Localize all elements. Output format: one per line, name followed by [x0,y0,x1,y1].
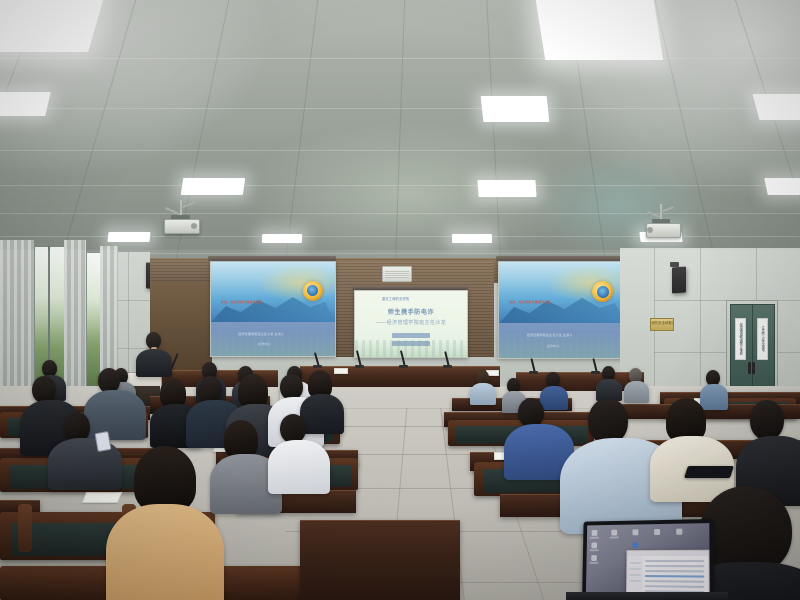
wall-plaque-sign: 消防安全疏散图 [650,318,674,331]
attendee-head [280,414,306,443]
attendee-head [750,400,784,440]
ceiling-grid-line [0,185,800,186]
smartphone-in-hand[interactable] [94,431,111,452]
microphone-base [443,365,452,368]
ceiling-grid-line [0,58,800,59]
right-projection-screen[interactable]: 防范、电信网络诈骗宣传讲座 经济管理学院班主任沙龙 主讲人 反诈中心 [498,261,626,359]
ceiling-led-panel [181,178,245,195]
wall-fixture [382,266,412,282]
emblem-inner-icon [307,285,318,296]
attendee-torso [106,504,224,600]
door-notice-left: 保持通道畅通禁止堆放 [735,318,746,360]
attendee-torso [268,440,330,494]
attendee-torso [540,386,568,410]
center-projection-screen[interactable]: 重庆工商职业学院 师生携手防电诈 ——经济管理学院班主任沙龙 [354,290,468,358]
desktop-icon-browser[interactable] [632,542,638,548]
door-handle[interactable] [748,362,751,374]
door-notice-left-text: 保持通道畅通禁止堆放 [738,320,742,358]
attendee-torso [624,381,649,403]
attendee-torso [700,384,728,410]
ceiling-led-panel [535,0,663,60]
center-slide-org: 重庆工商职业学院 [382,296,409,301]
file-row[interactable] [645,580,704,583]
desktop-icon-label [590,537,599,539]
ceiling-led-panel [0,0,106,52]
microphone-base [591,371,600,374]
file-manager-window[interactable] [626,550,710,596]
ceiling-grid-line [0,150,800,151]
ceiling-led-panel [753,94,800,120]
ceiling-led-panel [477,180,536,197]
bench-desk-foreground [300,520,460,600]
police-badge-emblem-icon [303,281,323,301]
attendee-head [198,376,222,403]
file-row-selected[interactable] [645,575,704,578]
attendee-torso [84,390,146,440]
left-projection-screen[interactable]: 防范、电信网络诈骗宣传讲座 经济管理学院班主任沙龙 主讲人 反诈中心 [210,261,336,357]
microphone-base [313,365,322,368]
attendee-torso [470,383,496,405]
bench-armrest [18,504,32,552]
desktop-icon-label [590,549,599,551]
ceiling-led-panel [452,234,492,243]
left-slide-footer-1: 经济管理学院班主任沙龙 主讲人 [238,332,284,336]
desktop-icon[interactable] [591,543,597,549]
center-slide-skyline [355,340,467,357]
lecture-hall-photo: 防范、电信网络诈骗宣传讲座 经济管理学院班主任沙龙 主讲人 反诈中心 重庆工商职… [0,0,800,600]
desk-name-card [334,368,348,374]
microphone-base [529,371,538,374]
desktop-icon[interactable] [591,555,597,561]
ceiling-grid-line [0,213,800,214]
file-row[interactable] [645,585,705,588]
door-handle[interactable] [752,362,755,374]
wall-plaque-text: 消防安全疏散图 [651,319,673,328]
door-notice-right: 注意防火安全用电 [757,318,768,360]
left-slide-footer-2: 反诈中心 [258,342,271,346]
right-slide-footer-1: 经济管理学院班主任沙龙 主讲人 [527,333,573,337]
ceiling-led-panel [107,232,150,242]
desktop-icon[interactable] [654,529,660,535]
right-slide-footer-2: 反诈中心 [547,344,560,348]
attendee-hair [224,420,258,458]
ceiling-led-panel [0,92,51,116]
emblem-inner-icon [597,286,609,298]
right-slide-headline: 防范、电信网络诈骗宣传讲座 [509,300,551,304]
microphone-base [355,365,364,368]
desktop-icon[interactable] [592,530,598,536]
handout-paper [82,492,122,503]
projector-lens-icon [647,227,653,233]
attendee-hair [134,446,196,512]
tablet-on-desk[interactable] [684,466,734,478]
desktop-icon-label [609,536,619,538]
attendee-head [32,376,56,403]
file-row[interactable] [645,565,704,567]
attendee-hair [238,374,268,408]
sidebar-item[interactable] [629,568,641,570]
presenter-torso [136,349,172,377]
file-row[interactable] [645,570,704,572]
open-laptop-foreground[interactable] [582,519,714,600]
laptop-screen[interactable] [586,523,710,595]
desktop-icon[interactable] [676,529,682,535]
ceiling [0,0,800,262]
desktop-icon-label [589,562,598,564]
laptop-base [566,592,728,600]
center-slide-bar-1 [392,333,430,338]
center-slide-title-2: ——经济管理学院班主任沙龙 [355,319,467,326]
sidebar-item[interactable] [629,562,641,564]
attendee-head [518,398,544,427]
ceiling-led-panel [481,96,550,122]
microphone-base [399,365,408,368]
sidebar-item[interactable] [629,580,641,582]
desktop-icon[interactable] [632,529,638,535]
desktop-icon[interactable] [611,530,617,536]
ceiling-led-panel [764,178,800,195]
file-row[interactable] [645,560,704,562]
left-slide-headline: 防范、电信网络诈骗宣传讲座 [221,300,263,304]
door-notice-right-text: 注意防火安全用电 [760,320,764,358]
sidebar-item[interactable] [629,574,641,576]
wall-speaker-right [672,267,686,294]
attendee-torso [300,394,344,434]
projector-lens-icon [191,223,197,229]
ceiling-led-panel [262,234,302,243]
center-slide-title-1: 师生携手防电诈 [355,307,467,316]
fixture-grill-icon [385,271,409,277]
